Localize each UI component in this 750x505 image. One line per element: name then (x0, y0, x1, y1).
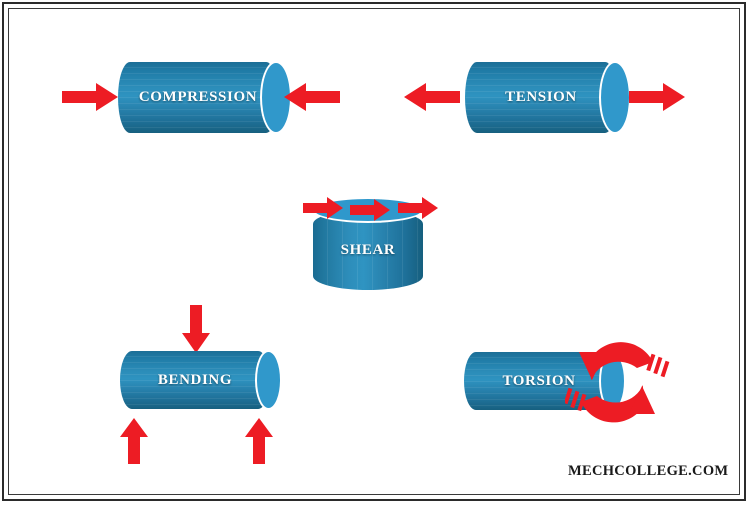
tension-arrow-right (629, 82, 685, 112)
tension-label: TENSION (465, 62, 635, 133)
watermark-text: MECHCOLLEGE.COM (568, 463, 728, 480)
torsion-arrow-lower (565, 385, 655, 422)
bending-arrow-bottom-right (244, 418, 274, 464)
bending-arrow-top (181, 305, 211, 353)
shear-arrow-center (350, 199, 390, 221)
compression-label: COMPRESSION (118, 62, 296, 133)
shear-arrow-right (398, 197, 438, 219)
torsion-arrow-upper (579, 342, 669, 380)
tension-cylinder: TENSION (465, 62, 617, 133)
shear-arrow-left (303, 197, 343, 219)
torsion-rotation-arrows (565, 328, 670, 443)
compression-arrow-right (284, 82, 340, 112)
bending-label: BENDING (120, 351, 286, 409)
compression-arrow-left (62, 82, 118, 112)
tension-arrow-left (404, 82, 460, 112)
compression-cylinder: COMPRESSION (118, 62, 278, 133)
stress-types-diagram: COMPRESSION TENSION SHEAR (0, 0, 750, 505)
shear-label: SHEAR (313, 210, 423, 290)
shear-cylinder: SHEAR (313, 210, 423, 290)
bending-cylinder: BENDING (120, 351, 270, 409)
bending-arrow-bottom-left (119, 418, 149, 464)
